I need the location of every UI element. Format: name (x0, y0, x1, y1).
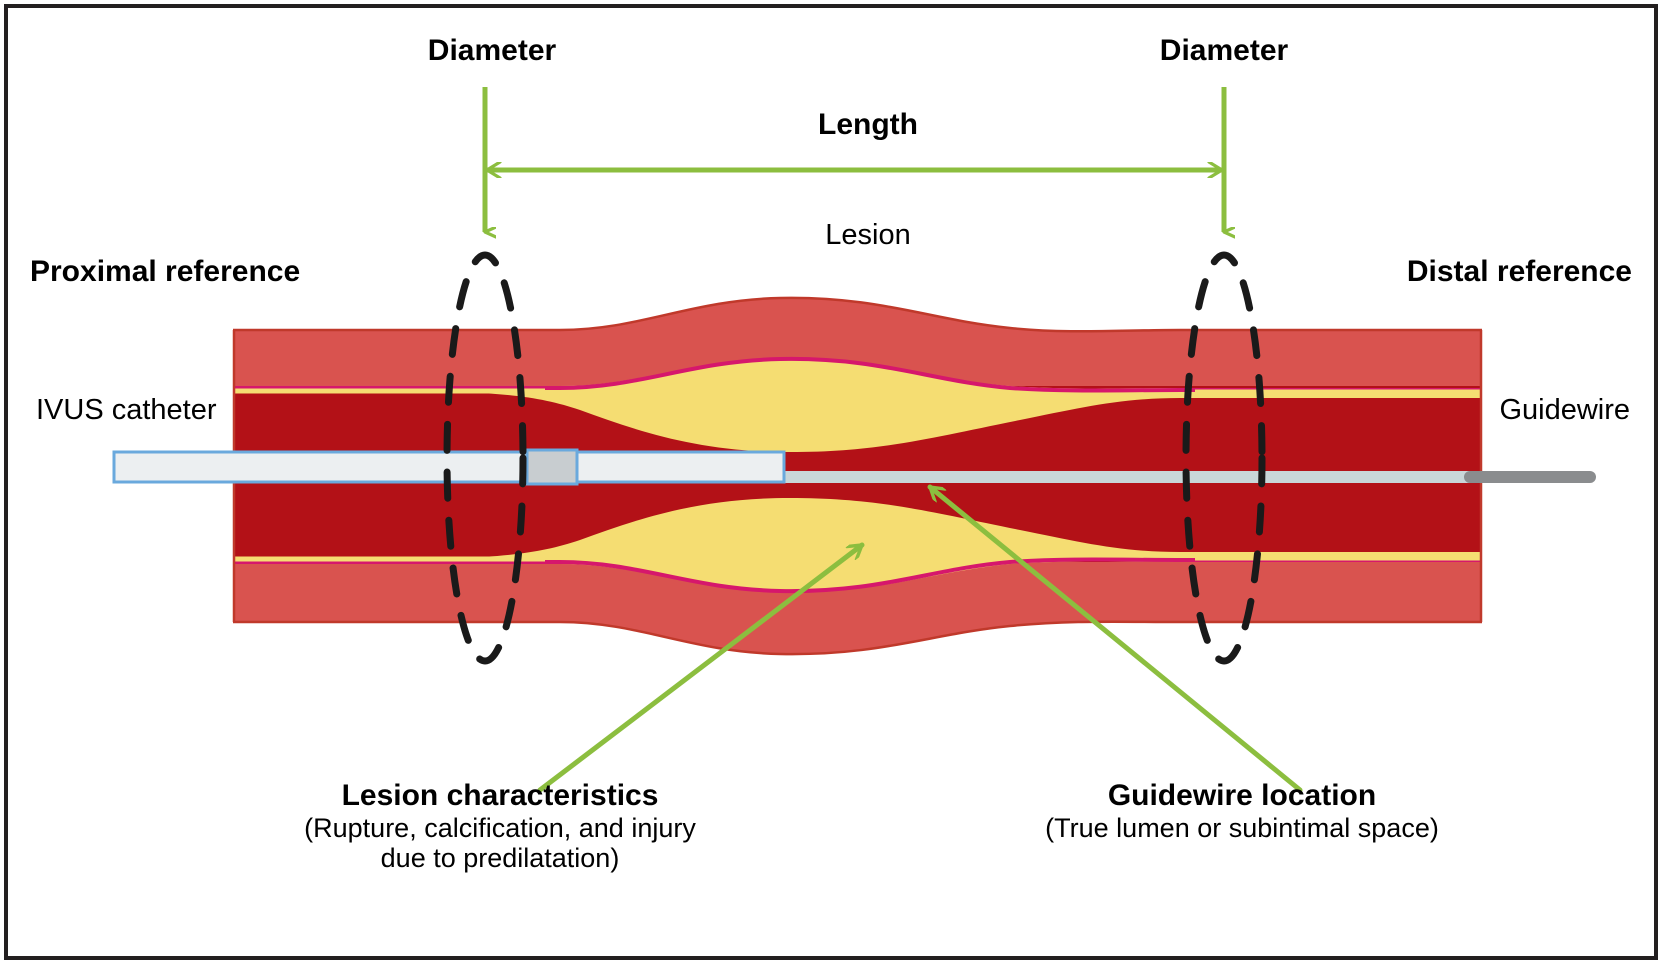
lesion-characteristics-detail-1: (Rupture, calcification, and injury (304, 813, 696, 843)
ivus-catheter-label: IVUS catheter (36, 394, 217, 426)
distal-reference-label: Distal reference (1407, 255, 1632, 289)
lesion-characteristics-title: Lesion characteristics (342, 779, 659, 812)
guidewire-location-title: Guidewire location (1108, 779, 1376, 812)
figure-root: Diameter Diameter Length Lesion Proximal… (0, 0, 1662, 964)
diameter-right-label: Diameter (1160, 34, 1288, 68)
diameter-left-label: Diameter (428, 34, 556, 68)
proximal-reference-label: Proximal reference (30, 255, 300, 289)
guidewire-label: Guidewire (1499, 394, 1630, 426)
guidewire-location-callout: Guidewire location (True lumen or subint… (1045, 779, 1439, 843)
ivus-transducer (527, 450, 577, 484)
lesion-label: Lesion (825, 219, 910, 251)
lesion-characteristics-callout: Lesion characteristics (Rupture, calcifi… (304, 779, 696, 873)
guidewire-location-detail-1: (True lumen or subintimal space) (1045, 813, 1439, 843)
lesion-characteristics-detail-2: due to predilatation) (304, 843, 696, 873)
length-label: Length (818, 108, 918, 142)
